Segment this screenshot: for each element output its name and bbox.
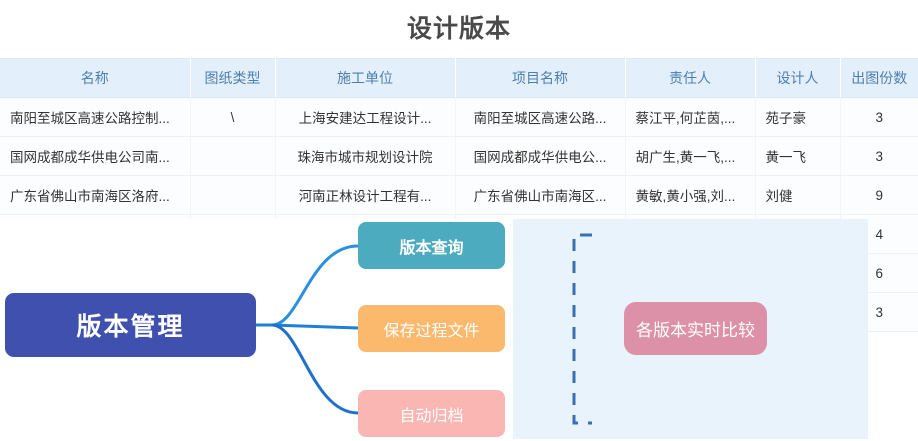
- cell-unit[interactable]: 珠海市城市规划设计院: [275, 137, 455, 176]
- cell-name[interactable]: 南阳至城区高速公路控制...: [0, 98, 190, 137]
- column-header-proj[interactable]: 项目名称: [455, 59, 625, 98]
- cell-proj[interactable]: 广东省佛山市南海区...: [455, 176, 625, 215]
- cell-name[interactable]: 国网成都成华供电公司南...: [0, 137, 190, 176]
- cell-resp: 蔡江平,何芷茵,...: [625, 98, 755, 137]
- table-row[interactable]: 广东省佛山市南海区洛府... 河南正林设计工程有... 广东省佛山市南海区...…: [0, 176, 918, 215]
- column-header-unit[interactable]: 施工单位: [275, 59, 455, 98]
- cell-des: 黄一飞: [755, 137, 840, 176]
- cell-resp: 胡广生,黄一飞,...: [625, 137, 755, 176]
- column-header-type[interactable]: 图纸类型: [190, 59, 275, 98]
- mindmap-compare-node[interactable]: 各版本实时比较: [624, 302, 767, 355]
- mindmap-child-auto-archive[interactable]: 自动归档: [358, 390, 505, 437]
- cell-type: [190, 137, 275, 176]
- cell-unit[interactable]: 上海安建达工程设计...: [275, 98, 455, 137]
- cell-unit[interactable]: 河南正林设计工程有...: [275, 176, 455, 215]
- cell-des: 刘健: [755, 176, 840, 215]
- cell-name[interactable]: 广东省佛山市南海区洛府...: [0, 176, 190, 215]
- cell-type: [190, 176, 275, 215]
- cell-proj[interactable]: 国网成都成华供电公...: [455, 137, 625, 176]
- column-header-resp[interactable]: 责任人: [625, 59, 755, 98]
- column-header-des[interactable]: 设计人: [755, 59, 840, 98]
- cell-count: 3: [840, 137, 918, 176]
- column-header-name[interactable]: 名称: [0, 59, 190, 98]
- column-header-count[interactable]: 出图份数: [840, 59, 918, 98]
- mindmap-child-version-query[interactable]: 版本查询: [358, 222, 505, 269]
- cell-des: 苑子豪: [755, 98, 840, 137]
- table-header-row: 名称 图纸类型 施工单位 项目名称 责任人 设计人 出图份数: [0, 59, 918, 98]
- mindmap-child-save-process-file[interactable]: 保存过程文件: [358, 305, 505, 352]
- page-title: 设计版本: [0, 0, 918, 58]
- table-row[interactable]: 南阳至城区高速公路控制... \ 上海安建达工程设计... 南阳至城区高速公路.…: [0, 98, 918, 137]
- cell-proj[interactable]: 南阳至城区高速公路...: [455, 98, 625, 137]
- mindmap-overlay: 版本管理 版本查询 保存过程文件 自动归档 各版本实时比较: [0, 219, 868, 439]
- mindmap-root-node[interactable]: 版本管理: [5, 293, 256, 357]
- app-screen: 设计版本 名称 图纸类型 施工单位 项目名称 责任人 设计人 出图份数 南阳至城…: [0, 0, 918, 441]
- cell-resp: 黄敏,黄小强,刘...: [625, 176, 755, 215]
- table-row[interactable]: 国网成都成华供电公司南... 珠海市城市规划设计院 国网成都成华供电公... 胡…: [0, 137, 918, 176]
- cell-type: \: [190, 98, 275, 137]
- cell-count: 9: [840, 176, 918, 215]
- cell-count: 3: [840, 98, 918, 137]
